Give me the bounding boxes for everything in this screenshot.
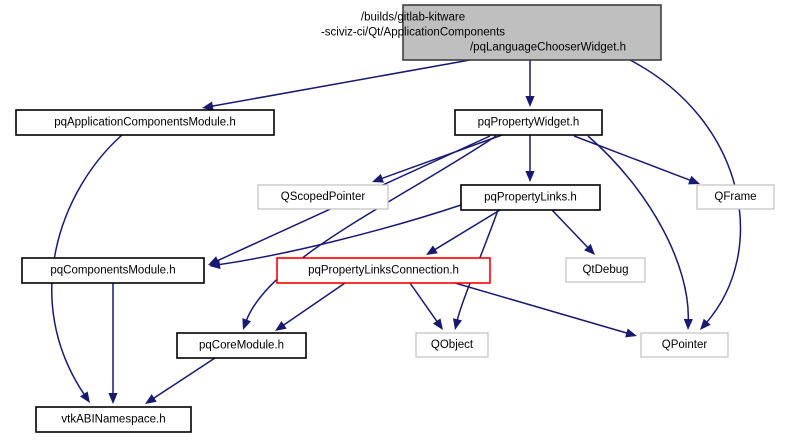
graph-node-qtdebug[interactable]: QtDebug [566,258,645,282]
arrowhead-icon [625,329,637,338]
graph-node-qobject[interactable]: QObject [416,333,488,357]
graph-node-vtkabi[interactable]: vtkABINamespace.h [36,407,191,432]
graph-node-root[interactable]: /builds/gitlab-kitware-sciviz-ci/Qt/Appl… [321,5,661,60]
graph-node-qframe[interactable]: QFrame [697,185,774,209]
node-label: pqComponentsModule.h [50,265,175,277]
edge-proplinks-to-qtdebug [552,210,595,255]
arrowhead-icon [372,174,384,183]
arrowhead-icon [242,318,251,330]
edge-propwidget-to-qframe [574,136,700,184]
node-label: -sciviz-ci/Qt/ApplicationComponents [321,27,505,39]
graph-node-qscopedpointer[interactable]: QScopedPointer [258,185,388,209]
graph-node-coremodule[interactable]: pqCoreModule.h [177,333,306,358]
graph-node-propwidget[interactable]: pqPropertyWidget.h [455,110,602,135]
edge-compmodule-to-vtkabi [108,283,117,404]
graph-node-proplinks[interactable]: pqPropertyLinks.h [461,185,600,210]
node-label: pqPropertyLinksConnection.h [308,265,459,277]
include-dependency-graph: /builds/gitlab-kitware-sciviz-ci/Qt/Appl… [0,0,797,440]
arrowhead-icon [145,394,157,404]
arrowhead-icon [80,391,90,403]
arrowhead-icon [684,319,693,330]
node-label: QtDebug [582,264,628,276]
arrowhead-icon [453,318,462,330]
node-label: pqPropertyLinks.h [484,192,577,204]
edge-root-to-appcompmodule [202,60,470,111]
node-label: pqCoreModule.h [199,340,284,352]
node-label: /builds/gitlab-kitware [361,12,465,24]
arrowhead-icon [108,393,117,404]
edge-root-to-propwidget [525,60,534,107]
node-label: QFrame [714,191,756,203]
edge-propwidget-to-proplinks [525,135,534,182]
dependency-graph-canvas: /builds/gitlab-kitware-sciviz-ci/Qt/Appl… [0,0,797,440]
node-label: /pqLanguageChooserWidget.h [470,42,626,54]
edge-proplinksconn-to-qobject [410,283,443,330]
arrowhead-icon [525,171,534,182]
edge-proplinksconn-to-coremodule [275,283,345,331]
graph-node-appcompmodule[interactable]: pqApplicationComponentsModule.h [16,110,274,135]
node-label: QObject [431,339,474,351]
node-label: vtkABINamespace.h [61,414,165,426]
arrowhead-icon [433,318,443,330]
node-layer: /builds/gitlab-kitware-sciviz-ci/Qt/Appl… [16,5,774,432]
edge-coremodule-to-vtkabi [145,358,215,404]
arrowhead-icon [525,96,534,107]
graph-node-proplinksconn[interactable]: pqPropertyLinksConnection.h [277,258,490,283]
arrowhead-icon [275,321,287,331]
graph-node-compmodule[interactable]: pqComponentsModule.h [22,258,204,283]
graph-node-qpointer[interactable]: QPointer [641,333,728,357]
node-label: QPointer [662,339,708,351]
edge-propwidget-to-qpointer [588,136,693,330]
edge-propwidget-to-qscopedpointer [372,135,502,183]
arrowhead-icon [426,245,438,255]
edge-proplinksconn-to-qpointer [455,283,637,337]
arrowhead-icon [688,176,700,185]
node-label: QScopedPointer [281,191,366,203]
node-label: pqApplicationComponentsModule.h [54,117,236,129]
node-label: pqPropertyWidget.h [478,117,580,129]
